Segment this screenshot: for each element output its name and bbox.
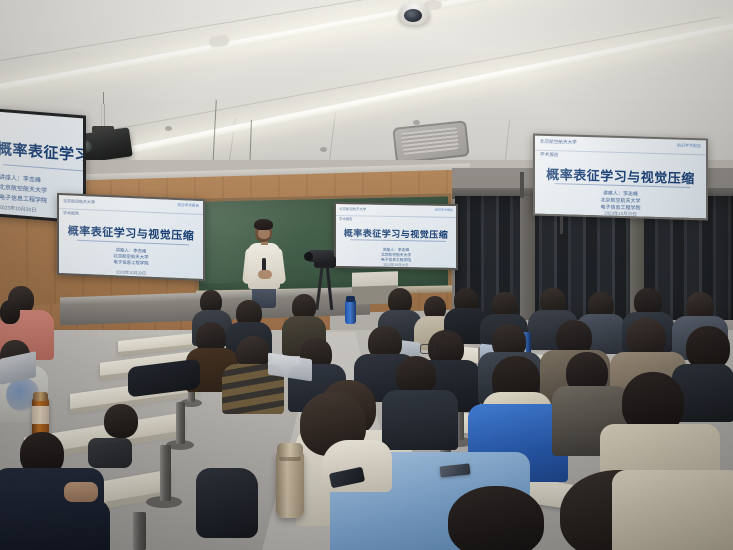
foreground-arm xyxy=(0,500,110,550)
left-projection-screen[interactable]: 北京航空航天大学 前沿学术报告 学术报告 概率表征学习与视觉压缩 讲座人：李志峰… xyxy=(57,193,205,281)
camera-lens-icon xyxy=(304,252,313,261)
ceiling-sensor xyxy=(320,147,327,152)
slide-university-logo: 北京航空航天大学 xyxy=(339,206,366,211)
foreground-torso-beige xyxy=(612,470,733,550)
audience-head xyxy=(104,404,138,438)
blue-water-bottle xyxy=(345,300,356,324)
foreground-hand xyxy=(64,482,98,502)
slide-university-logo: 北京航空航天大学 xyxy=(540,139,577,146)
right-wall-display[interactable]: 北京航空航天大学 前沿学术报告 学术报告 概率表征学习与视觉压缩 讲座人：李志峰… xyxy=(533,134,708,221)
slide-date: 2023年10月20日 xyxy=(336,261,456,268)
lecture-hall-photo: 概率表征学习与视觉压缩 讲座人：李志峰 北京航空航天大学 电子信息工程学院 20… xyxy=(0,0,733,550)
slide-title: 概率表征学习与视觉压缩 xyxy=(0,138,83,166)
desk-leg xyxy=(176,402,185,444)
desk-leg xyxy=(133,512,146,550)
ceiling-sensor xyxy=(413,120,420,125)
speaker-hair xyxy=(254,219,273,230)
eyeglasses xyxy=(420,344,435,354)
foreground-head xyxy=(448,486,544,550)
slide-kicker: 学术报告 xyxy=(339,216,353,221)
center-projection-screen[interactable]: 北京航空航天大学 前沿学术报告 学术报告 概率表征学习与视觉压缩 讲座人：李志峰… xyxy=(334,202,458,270)
slide-tagline: 前沿学术报告 xyxy=(177,203,199,209)
slide-divider xyxy=(3,164,83,171)
bottle-cap xyxy=(33,392,48,401)
display-mount-arm xyxy=(520,172,524,198)
slide-tagline: 前沿学术报告 xyxy=(677,143,701,150)
thermos-cap xyxy=(277,443,303,457)
camera-lens-icon xyxy=(404,9,422,22)
audience-torso xyxy=(382,390,458,450)
bag xyxy=(88,438,132,468)
bottle-cap xyxy=(346,296,355,302)
bottle-label xyxy=(32,406,49,424)
backpack-on-floor xyxy=(196,468,258,538)
slide-kicker: 学术报告 xyxy=(540,152,558,159)
slide-university-logo: 北京航空航天大学 xyxy=(63,198,95,205)
desk-leg xyxy=(160,445,171,501)
ceiling-sensor xyxy=(165,126,172,131)
projector-mount-pole xyxy=(101,104,105,128)
slide-kicker: 学术报告 xyxy=(63,210,79,217)
slide-tagline: 前沿学术报告 xyxy=(435,208,453,212)
travel-thermos xyxy=(276,452,304,518)
audience-head xyxy=(0,300,20,324)
speaker-hands xyxy=(258,270,272,279)
ceiling-panel-row xyxy=(0,52,733,99)
display-support xyxy=(560,216,563,234)
